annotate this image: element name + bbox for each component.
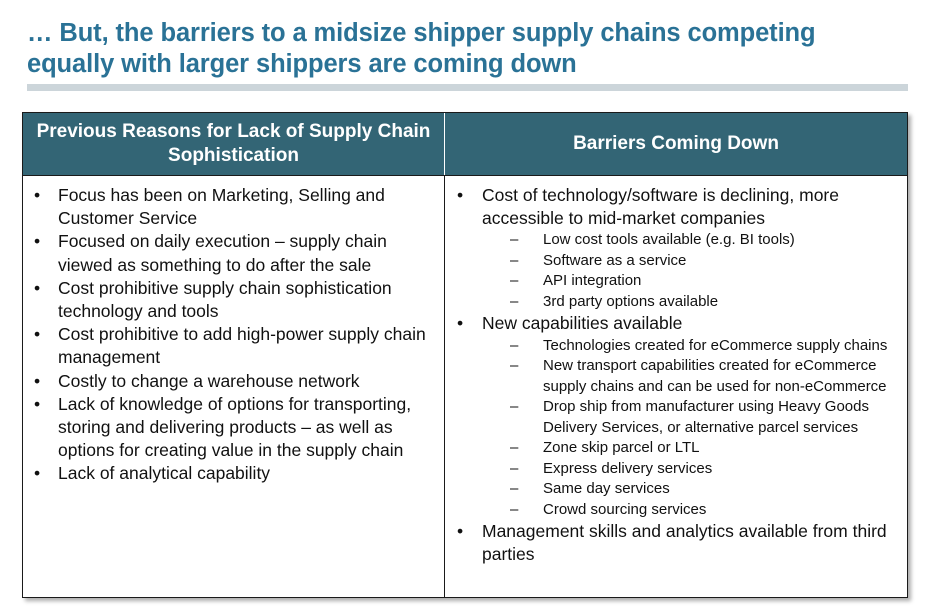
sub-list-item: –Software as a service [482, 251, 901, 272]
bullet-dash-icon: – [510, 271, 518, 292]
list-item: •Cost prohibitive to add high-power supp… [29, 323, 438, 369]
list-item-label: Focused on daily execution – supply chai… [58, 230, 438, 276]
bullet-dash-icon: – [510, 336, 518, 357]
sub-list-item: –Same day services [482, 479, 901, 500]
sub-list-item-label: New transport capabilities created for e… [543, 357, 887, 395]
bullet-dash-icon: – [510, 356, 518, 377]
list-item-label: Management skills and analytics availabl… [482, 520, 901, 566]
sub-list-item-label: Express delivery services [543, 460, 712, 477]
sub-list-item-label: Software as a service [543, 252, 686, 269]
sub-list-item: –Crowd sourcing services [482, 500, 901, 521]
list-item-label: Cost of technology/software is declining… [482, 184, 901, 230]
sub-list-item: –New transport capabilities created for … [482, 356, 901, 397]
list-item: •Focus has been on Marketing, Selling an… [29, 184, 438, 230]
list-item-label: Lack of analytical capability [58, 462, 438, 485]
list-item-label: Cost prohibitive to add high-power suppl… [58, 323, 438, 369]
sub-list-item: –Express delivery services [482, 459, 901, 480]
column-header-previous-reasons: Previous Reasons for Lack of Supply Chai… [23, 113, 445, 175]
sub-list-item-label: Same day services [543, 480, 670, 497]
page-title: … But, the barriers to a midsize shipper… [27, 18, 907, 80]
list-item-label: Focus has been on Marketing, Selling and… [58, 184, 438, 230]
bullet-dash-icon: – [510, 292, 518, 313]
bullet-dot-icon: • [457, 520, 463, 543]
sub-list-item: –3rd party options available [482, 292, 901, 313]
sub-list-item-label: Zone skip parcel or LTL [543, 439, 699, 456]
bullet-dot-icon: • [34, 277, 40, 300]
list-item: •Cost prohibitive supply chain sophistic… [29, 277, 438, 323]
sub-list-item: –Low cost tools available (e.g. BI tools… [482, 230, 901, 251]
list-item-label: Costly to change a warehouse network [58, 370, 438, 393]
bullet-dot-icon: • [34, 393, 40, 416]
sub-list: –Low cost tools available (e.g. BI tools… [482, 230, 901, 312]
bullet-dot-icon: • [34, 370, 40, 393]
list-item: •Costly to change a warehouse network [29, 370, 438, 393]
list-item-label: Lack of knowledge of options for transpo… [58, 393, 438, 463]
sub-list-item: –Technologies created for eCommerce supp… [482, 336, 901, 357]
bullet-dot-icon: • [34, 184, 40, 207]
list-item-label: New capabilities available [482, 312, 901, 335]
table-body-row: •Focus has been on Marketing, Selling an… [23, 176, 907, 597]
bullet-dash-icon: – [510, 500, 518, 521]
sub-list-item-label: Drop ship from manufacturer using Heavy … [543, 398, 869, 436]
bullet-dash-icon: – [510, 459, 518, 480]
sub-list-item: –Drop ship from manufacturer using Heavy… [482, 397, 901, 438]
list-item: •Focused on daily execution – supply cha… [29, 230, 438, 276]
bullet-dot-icon: • [34, 230, 40, 253]
bullet-dot-icon: • [457, 184, 463, 207]
bullet-dash-icon: – [510, 230, 518, 251]
bullet-dash-icon: – [510, 397, 518, 418]
sub-list: –Technologies created for eCommerce supp… [482, 336, 901, 521]
column-header-barriers-coming-down: Barriers Coming Down [445, 113, 907, 175]
bullet-dot-icon: • [457, 312, 463, 335]
list-item: •New capabilities available–Technologies… [451, 312, 901, 520]
list-item-label: Cost prohibitive supply chain sophistica… [58, 277, 438, 323]
table-header-row: Previous Reasons for Lack of Supply Chai… [23, 113, 907, 176]
previous-reasons-list: •Focus has been on Marketing, Selling an… [29, 184, 438, 486]
sub-list-item: –Zone skip parcel or LTL [482, 438, 901, 459]
title-divider-rule [27, 84, 908, 91]
list-item: •Lack of analytical capability [29, 462, 438, 485]
bullet-dash-icon: – [510, 479, 518, 500]
cell-previous-reasons: •Focus has been on Marketing, Selling an… [23, 176, 445, 597]
bullet-dot-icon: • [34, 323, 40, 346]
sub-list-item-label: API integration [543, 272, 641, 289]
list-item: •Cost of technology/software is declinin… [451, 184, 901, 312]
sub-list-item-label: Crowd sourcing services [543, 501, 706, 518]
bullet-dash-icon: – [510, 251, 518, 272]
sub-list-item: –API integration [482, 271, 901, 292]
bullet-dot-icon: • [34, 462, 40, 485]
sub-list-item-label: Technologies created for eCommerce suppl… [543, 337, 887, 354]
bullet-dash-icon: – [510, 438, 518, 459]
cell-barriers-coming-down: •Cost of technology/software is declinin… [445, 176, 907, 597]
list-item: •Management skills and analytics availab… [451, 520, 901, 566]
comparison-table: Previous Reasons for Lack of Supply Chai… [22, 112, 908, 598]
sub-list-item-label: Low cost tools available (e.g. BI tools) [543, 231, 795, 248]
list-item: •Lack of knowledge of options for transp… [29, 393, 438, 463]
sub-list-item-label: 3rd party options available [543, 293, 718, 310]
barriers-list: •Cost of technology/software is declinin… [451, 184, 901, 567]
